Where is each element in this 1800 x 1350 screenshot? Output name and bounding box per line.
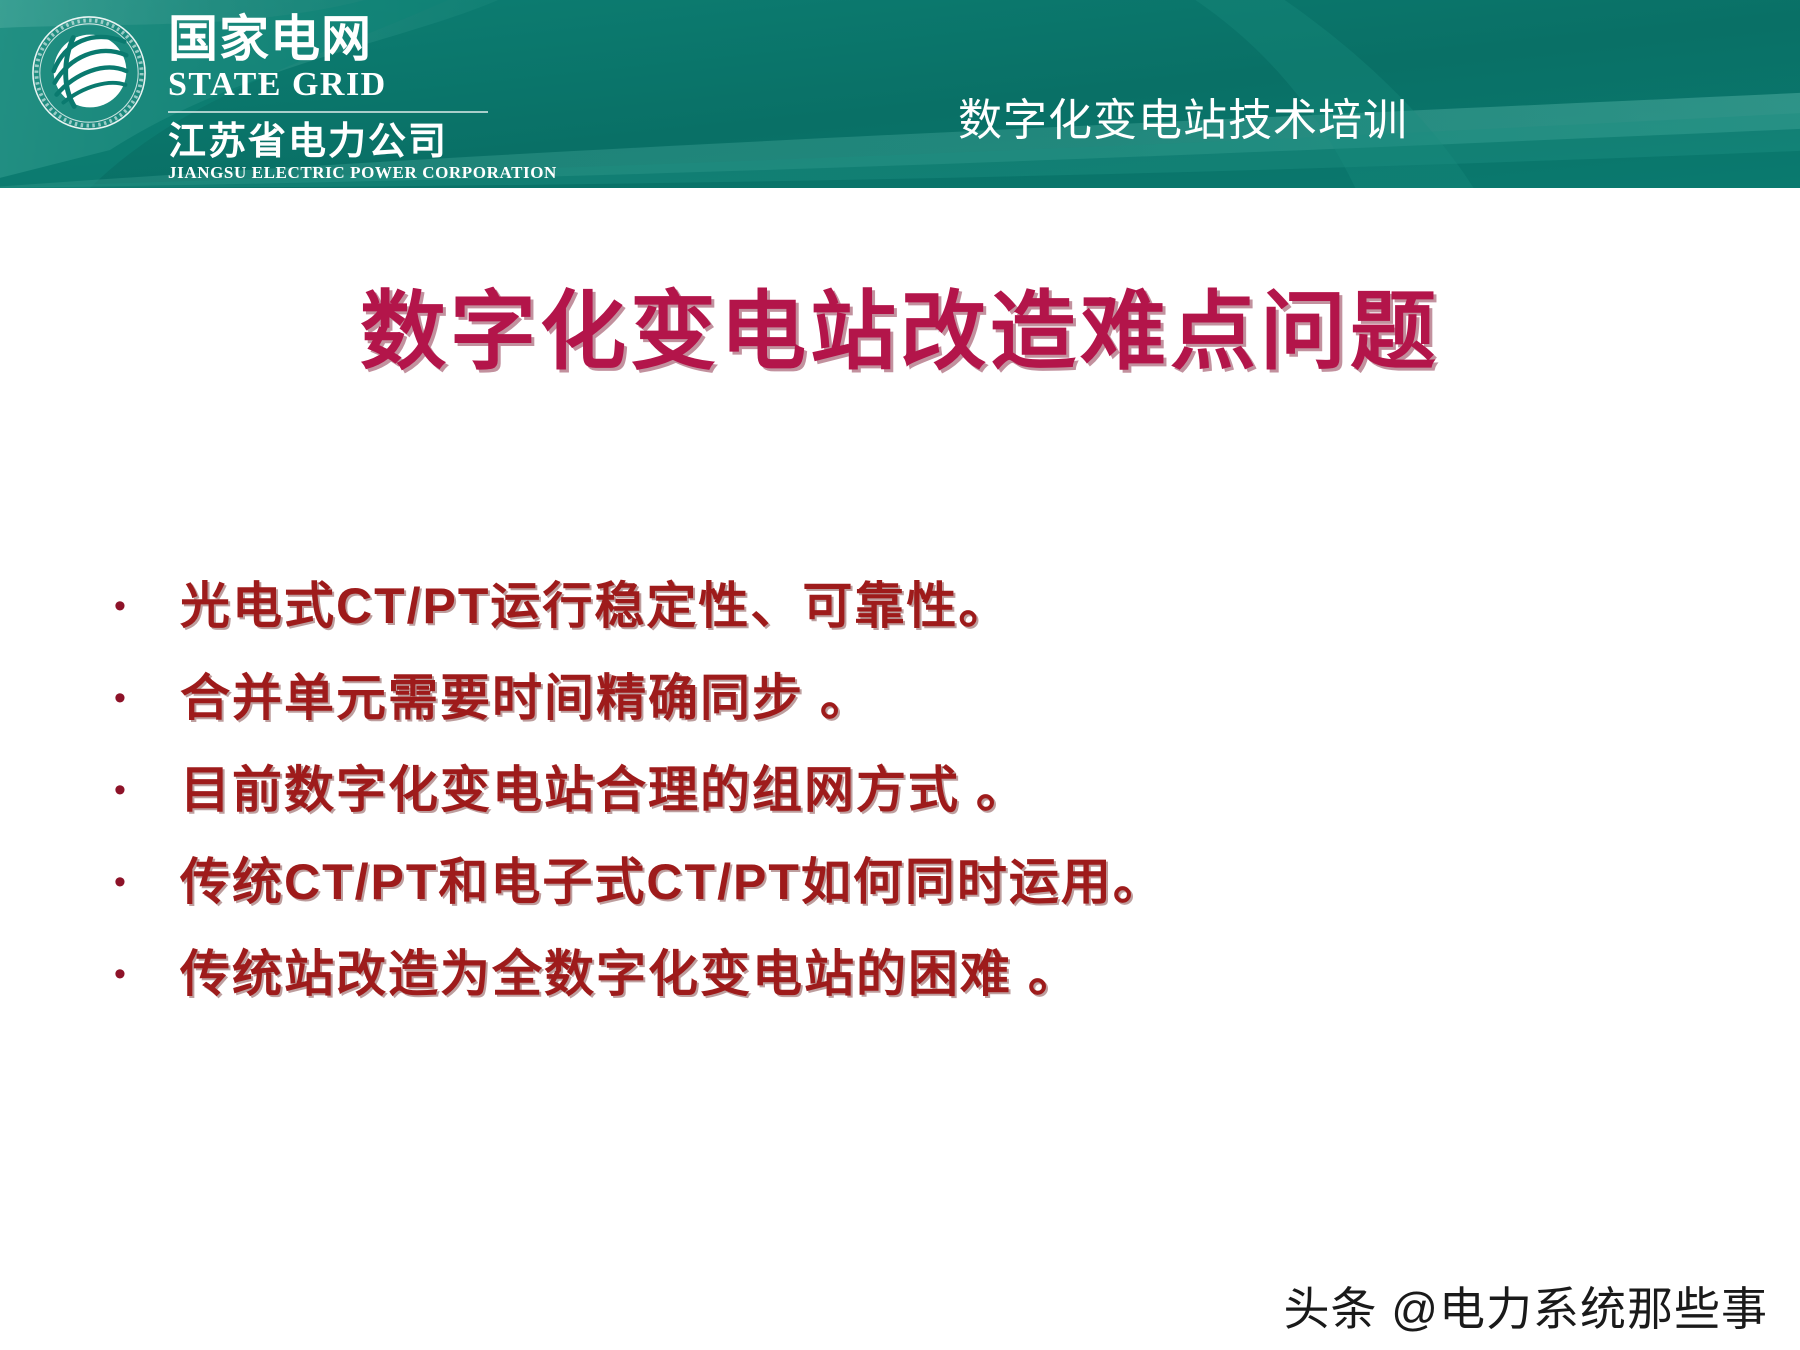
state-grid-globe-emblem-icon xyxy=(30,14,148,132)
slide-canvas: 国家电网 STATE GRID 江苏省电力公司 JIANGSU ELECTRIC… xyxy=(0,0,1800,1350)
logo-text-block: 国家电网 STATE GRID 江苏省电力公司 JIANGSU ELECTRIC… xyxy=(168,12,588,183)
list-item-label: 光电式CT/PT运行稳定性、可靠性。 xyxy=(180,576,1760,636)
bullet-marker-icon: • xyxy=(60,957,180,991)
bullet-marker-icon: • xyxy=(60,589,180,623)
logo-company-cn: 国家电网 xyxy=(168,12,588,66)
list-item: • 合并单元需要时间精确同步 。 xyxy=(60,652,1760,744)
list-item-label: 传统CT/PT和电子式CT/PT如何同时运用。 xyxy=(180,852,1760,912)
state-grid-logo-group: 国家电网 STATE GRID 江苏省电力公司 JIANGSU ELECTRIC… xyxy=(28,6,588,188)
list-item: • 目前数字化变电站合理的组网方式 。 xyxy=(60,744,1760,836)
logo-subsidiary-en: JIANGSU ELECTRIC POWER CORPORATION xyxy=(168,163,588,183)
list-item-label: 合并单元需要时间精确同步 。 xyxy=(180,668,1760,728)
list-item: • 光电式CT/PT运行稳定性、可靠性。 xyxy=(60,560,1760,652)
slide-title: 数字化变电站改造难点问题 xyxy=(0,282,1800,382)
logo-divider xyxy=(168,111,488,113)
logo-subsidiary-cn: 江苏省电力公司 xyxy=(168,121,588,163)
bullet-marker-icon: • xyxy=(60,773,180,807)
list-item: • 传统CT/PT和电子式CT/PT如何同时运用。 xyxy=(60,836,1760,928)
header-course-title: 数字化变电站技术培训 xyxy=(958,96,1408,146)
bullet-marker-icon: • xyxy=(60,681,180,715)
watermark-attribution: 头条 @电力系统那些事 xyxy=(1284,1282,1768,1336)
bullet-marker-icon: • xyxy=(60,865,180,899)
list-item-label: 传统站改造为全数字化变电站的困难 。 xyxy=(180,944,1760,1004)
header-band: 国家电网 STATE GRID 江苏省电力公司 JIANGSU ELECTRIC… xyxy=(0,0,1800,188)
logo-company-en: STATE GRID xyxy=(168,66,588,104)
bullet-list: • 光电式CT/PT运行稳定性、可靠性。 • 合并单元需要时间精确同步 。 • … xyxy=(60,560,1760,1020)
list-item-label: 目前数字化变电站合理的组网方式 。 xyxy=(180,760,1760,820)
list-item: • 传统站改造为全数字化变电站的困难 。 xyxy=(60,928,1760,1020)
